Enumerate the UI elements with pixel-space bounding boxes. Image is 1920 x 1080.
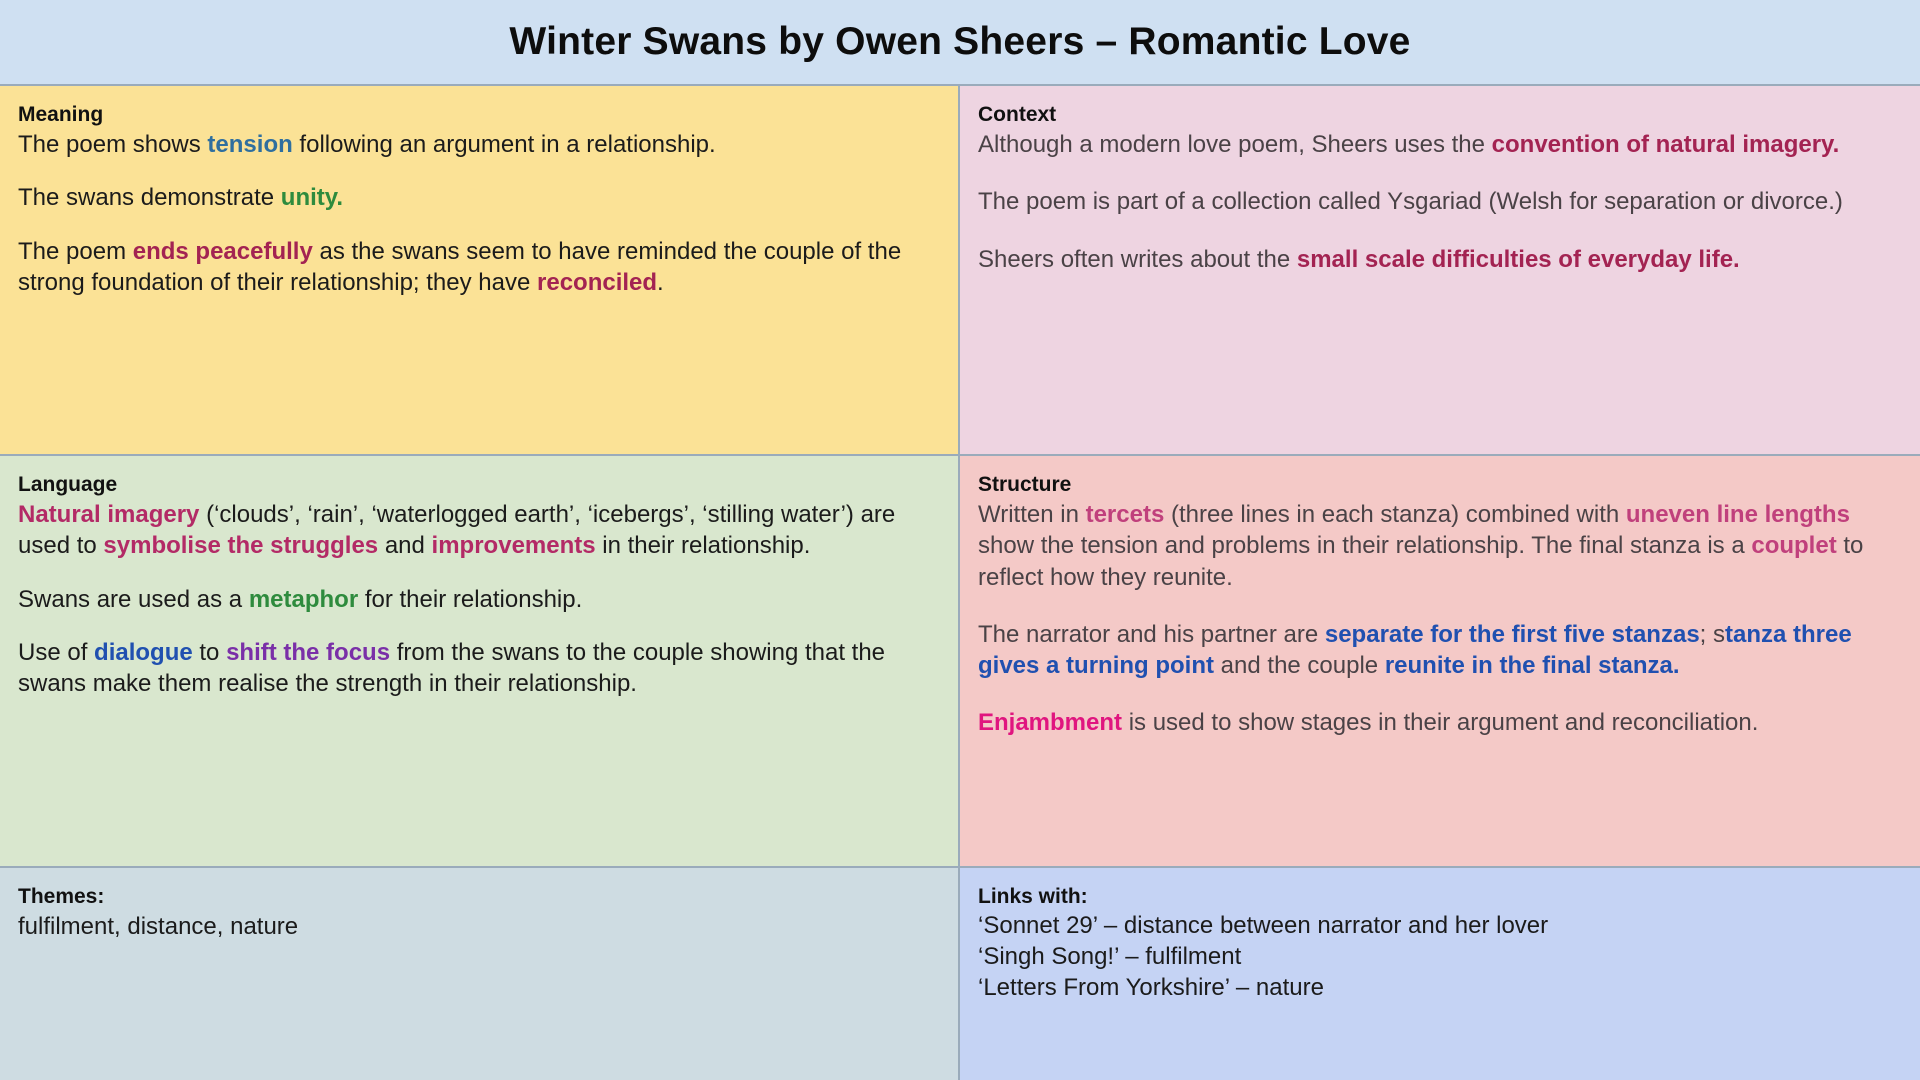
themes-list: fulfilment, distance, nature	[18, 911, 938, 943]
context-paragraph-1: Although a modern love poem, Sheers uses…	[978, 129, 1900, 160]
meaning-p3-highlight-ends-peacefully: ends peacefully	[133, 238, 313, 265]
links-item: ‘Letters From Yorkshire’ – nature	[978, 973, 1900, 1004]
structure-p1-highlight-uneven-lines: uneven line lengths	[1626, 501, 1850, 528]
links-item: ‘Sonnet 29’ – distance between narrator …	[978, 911, 1900, 942]
language-p2-text-b: for their relationship.	[358, 586, 582, 613]
language-paragraph-1: Natural imagery (‘clouds’, ‘rain’, ‘wate…	[18, 499, 938, 561]
title-banner: Winter Swans by Owen Sheers – Romantic L…	[0, 0, 1920, 86]
panel-themes: Themes: fulfilment, distance, nature	[0, 868, 960, 1080]
context-paragraph-3: Sheers often writes about the small scal…	[978, 244, 1900, 275]
panel-structure: Structure Written in tercets (three line…	[960, 456, 1920, 866]
language-p1-text-c: in their relationship.	[596, 532, 811, 559]
language-p3-highlight-shift-focus: shift the focus	[226, 639, 390, 666]
panel-heading-themes: Themes:	[18, 884, 938, 910]
language-p3-text-b: to	[193, 639, 226, 666]
structure-p1-text-c: show the tension and problems in their r…	[978, 532, 1751, 559]
language-p2-highlight-metaphor: metaphor	[249, 586, 358, 613]
page-title: Winter Swans by Owen Sheers – Romantic L…	[509, 20, 1410, 64]
structure-p2-text-c: and the couple	[1214, 652, 1385, 679]
language-p1-highlight-improvements: improvements	[432, 532, 596, 559]
meaning-p3-text-c: .	[657, 269, 664, 296]
panel-heading-context: Context	[978, 102, 1900, 128]
language-p2-text-a: Swans are used as a	[18, 586, 249, 613]
structure-p2-text-b: ; s	[1700, 621, 1725, 648]
structure-p1-highlight-couplet: couplet	[1751, 532, 1836, 559]
structure-p3-text-a: is used to show stages in their argument…	[1122, 709, 1758, 736]
links-item: ‘Singh Song!’ – fulfilment	[978, 942, 1900, 973]
context-p1-highlight-convention: convention of natural imagery.	[1492, 131, 1840, 158]
meaning-p2-text-a: The swans demonstrate	[18, 184, 281, 211]
language-p1-highlight-symbolise: symbolise the struggles	[103, 532, 378, 559]
structure-p2-highlight-separate: separate for the first five stanzas	[1325, 621, 1700, 648]
grid-row-bottom: Themes: fulfilment, distance, nature Lin…	[0, 868, 1920, 1080]
structure-p3-highlight-enjambment: Enjambment	[978, 709, 1122, 736]
structure-paragraph-1: Written in tercets (three lines in each …	[978, 499, 1900, 593]
structure-p1-highlight-tercets: tercets	[1086, 501, 1165, 528]
structure-paragraph-2: The narrator and his partner are separat…	[978, 619, 1900, 681]
grid-row-top: Meaning The poem shows tension following…	[0, 86, 1920, 456]
language-p1-highlight-natural-imagery: Natural imagery	[18, 501, 199, 528]
panel-heading-links: Links with:	[978, 884, 1900, 910]
meaning-p2-highlight-unity: unity.	[281, 184, 343, 211]
language-p3-text-a: Use of	[18, 639, 94, 666]
language-p1-text-b: and	[378, 532, 431, 559]
grid-row-middle: Language Natural imagery (‘clouds’, ‘rai…	[0, 456, 1920, 868]
meaning-p3-highlight-reconciled: reconciled	[537, 269, 657, 296]
meaning-p1-text-b: following an argument in a relationship.	[293, 131, 716, 158]
language-paragraph-2: Swans are used as a metaphor for their r…	[18, 584, 938, 615]
structure-p2-highlight-reunite: reunite in the final stanza.	[1385, 652, 1680, 679]
meaning-paragraph-3: The poem ends peacefully as the swans se…	[18, 236, 938, 298]
panel-meaning: Meaning The poem shows tension following…	[0, 86, 960, 454]
structure-paragraph-3: Enjambment is used to show stages in the…	[978, 707, 1900, 738]
structure-p1-text-a: Written in	[978, 501, 1086, 528]
structure-p2-text-a: The narrator and his partner are	[978, 621, 1325, 648]
revision-sheet: Winter Swans by Owen Sheers – Romantic L…	[0, 0, 1920, 1080]
structure-p1-text-b: (three lines in each stanza) combined wi…	[1164, 501, 1626, 528]
panel-grid: Meaning The poem shows tension following…	[0, 86, 1920, 1080]
meaning-paragraph-2: The swans demonstrate unity.	[18, 182, 938, 213]
panel-context: Context Although a modern love poem, She…	[960, 86, 1920, 454]
language-p3-highlight-dialogue: dialogue	[94, 639, 193, 666]
meaning-p1-highlight-tension: tension	[207, 131, 292, 158]
panel-heading-language: Language	[18, 472, 938, 498]
meaning-p1-text-a: The poem shows	[18, 131, 207, 158]
language-paragraph-3: Use of dialogue to shift the focus from …	[18, 637, 938, 699]
context-p3-text-a: Sheers often writes about the	[978, 246, 1297, 273]
context-paragraph-2: The poem is part of a collection called …	[978, 186, 1900, 217]
context-p3-highlight-difficulties: small scale difficulties of everyday lif…	[1297, 246, 1740, 273]
panel-heading-meaning: Meaning	[18, 102, 938, 128]
meaning-paragraph-1: The poem shows tension following an argu…	[18, 129, 938, 160]
panel-heading-structure: Structure	[978, 472, 1900, 498]
context-p1-text-a: Although a modern love poem, Sheers uses…	[978, 131, 1492, 158]
meaning-p3-text-a: The poem	[18, 238, 133, 265]
panel-links: Links with: ‘Sonnet 29’ – distance betwe…	[960, 868, 1920, 1080]
panel-language: Language Natural imagery (‘clouds’, ‘rai…	[0, 456, 960, 866]
